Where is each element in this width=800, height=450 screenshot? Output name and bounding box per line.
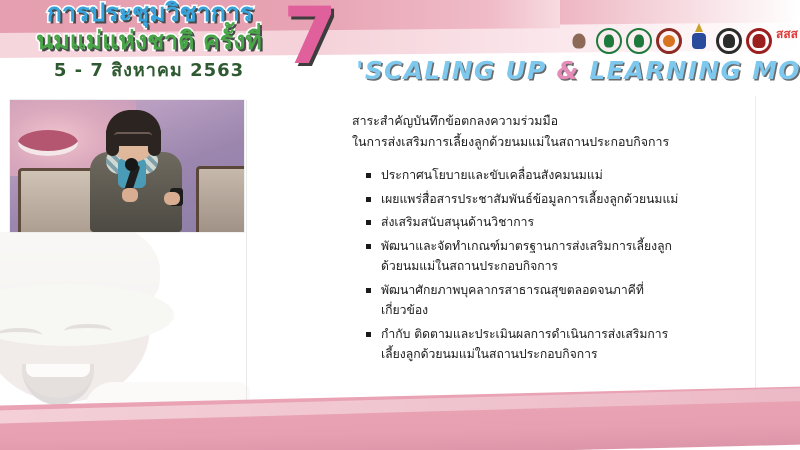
- speaker-photo: [10, 100, 244, 232]
- tagline-ampersand: &: [556, 56, 579, 85]
- header-banner: การประชุมวิชาการ นมแม่แห่งชาติ ครั้งที่ …: [0, 0, 800, 92]
- logo-thaihealth-sss: สสส: [776, 28, 800, 54]
- tagline-pre: 'SCALING UP: [356, 56, 556, 85]
- bullet-line: ส่งเสริมสนับสนุนด้านวิชาการ: [381, 212, 752, 233]
- content-lead-line2: ในการส่งเสริมการเลี้ยงลูกด้วยนมแม่ในสถาน…: [352, 131, 752, 152]
- list-item: พัฒนาและจัดทำเกณฑ์มาตรฐานการส่งเสริมการเ…: [366, 236, 752, 277]
- logo-red-crest: [746, 28, 772, 54]
- child-watermark-photo: [0, 232, 250, 422]
- logo-department-health: [626, 28, 652, 54]
- tagline-post: LEARNING MORE': [579, 56, 800, 85]
- content-divider: [246, 100, 247, 400]
- header-band-dark-skew: [0, 0, 560, 33]
- list-item: ส่งเสริมสนับสนุนด้านวิชาการ: [366, 212, 752, 233]
- content-bullet-list: ประกาศนโยบายและขับเคลื่อนสังคมนมแม่ เผยแ…: [366, 165, 752, 365]
- conference-date: 5 - 7 สิงหาคม 2563: [14, 58, 284, 84]
- bullet-line: เกี่ยวข้อง: [381, 300, 752, 321]
- logo-black-seal: [716, 28, 742, 54]
- edition-number: 7: [283, 0, 337, 76]
- slide-root: การประชุมวิชาการ นมแม่แห่งชาติ ครั้งที่ …: [0, 0, 800, 450]
- logo-thaihealth-text: สสส: [776, 28, 800, 40]
- logo-ministry-public-health: [596, 28, 622, 54]
- bullet-line: พัฒนาศักยภาพบุคลากรสาธารณสุขตลอดจนภาคีที…: [381, 280, 752, 301]
- bullet-line: เลี้ยงลูกด้วยนมแม่ในสถานประกอบกิจการ: [381, 344, 752, 365]
- bullet-line: พัฒนาและจัดทำเกณฑ์มาตรฐานการส่งเสริมการเ…: [381, 236, 752, 257]
- list-item: ประกาศนโยบายและขับเคลื่อนสังคมนมแม่: [366, 165, 752, 186]
- bullet-line: เผยแพร่สื่อสารประชาสัมพันธ์ข้อมูลการเลี้…: [381, 189, 752, 210]
- logo-royal-seal: [566, 28, 592, 54]
- conference-tagline: 'SCALING UP & LEARNING MORE': [356, 57, 800, 84]
- bullet-line: ด้วยนมแม่ในสถานประกอบกิจการ: [381, 256, 752, 277]
- list-item: พัฒนาศักยภาพบุคลากรสาธารณสุขตลอดจนภาคีที…: [366, 280, 752, 321]
- content-text-column: สาระสำคัญบันทึกข้อตกลงความร่วมมือ ในการส…: [352, 110, 752, 368]
- logo-thai-emblem-red: [656, 28, 682, 54]
- bullet-line: กำกับ ติดตามและประเมินผลการดำเนินการส่งเ…: [381, 324, 752, 345]
- bullet-line: ประกาศนโยบายและขับเคลื่อนสังคมนมแม่: [381, 165, 752, 186]
- logo-royal-crest: [686, 28, 712, 54]
- sponsor-logo-row: สสส: [566, 24, 800, 58]
- content-lead-line1: สาระสำคัญบันทึกข้อตกลงความร่วมมือ: [352, 110, 752, 131]
- right-edge-divider: [755, 96, 756, 404]
- list-item: กำกับ ติดตามและประเมินผลการดำเนินการส่งเ…: [366, 324, 752, 365]
- list-item: เผยแพร่สื่อสารประชาสัมพันธ์ข้อมูลการเลี้…: [366, 189, 752, 210]
